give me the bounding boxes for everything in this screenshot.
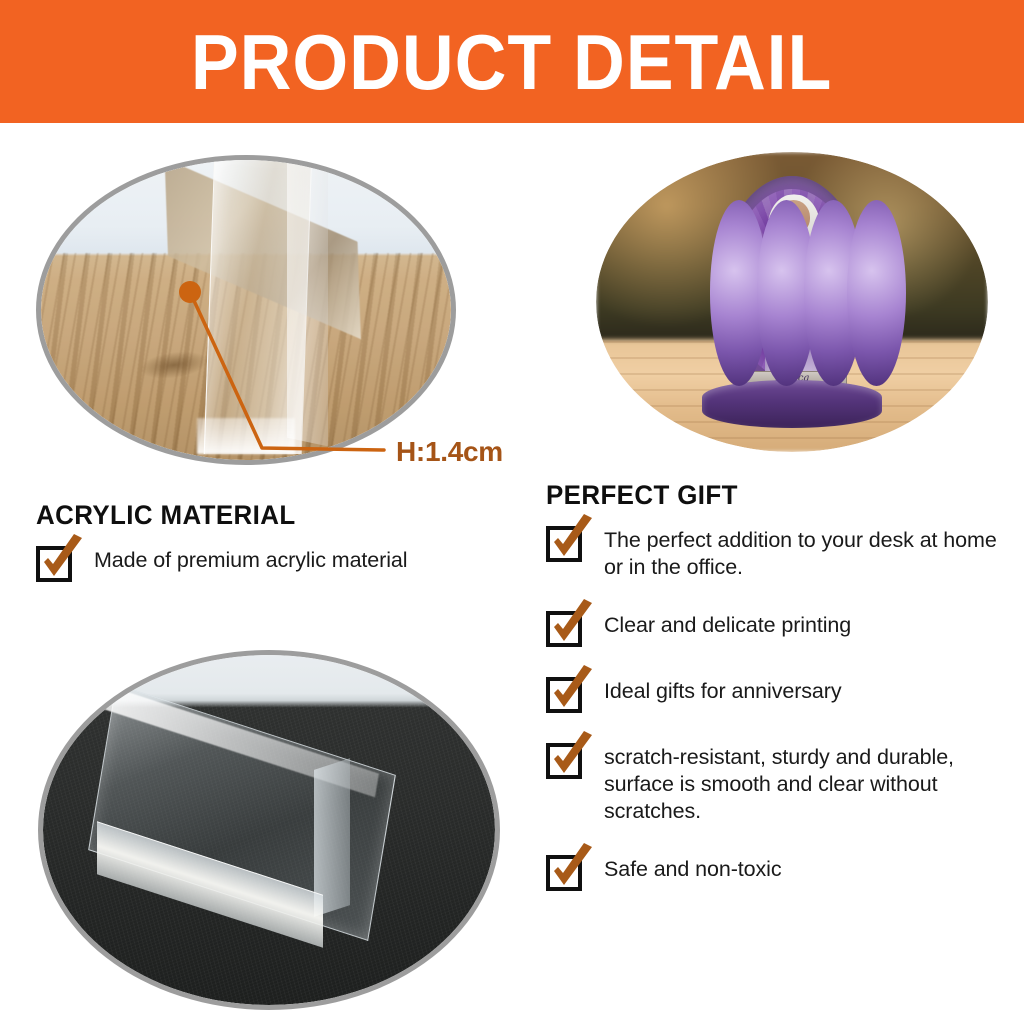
acrylic-block-photo xyxy=(38,650,500,1010)
list-item-label: Made of premium acrylic material xyxy=(94,542,407,574)
list-item-label: Safe and non-toxic xyxy=(604,851,782,883)
checkbox[interactable] xyxy=(546,526,582,562)
block-side-face xyxy=(314,758,350,917)
list-item-label: Ideal gifts for anniversary xyxy=(604,673,842,705)
checkbox[interactable] xyxy=(546,677,582,713)
acrylic-base-highlight xyxy=(197,418,295,454)
section-title-acrylic-material: ACRYLIC MATERIAL xyxy=(36,500,296,531)
rose-carving xyxy=(847,200,906,386)
check-icon xyxy=(544,663,600,719)
checkbox[interactable] xyxy=(36,546,72,582)
check-icon xyxy=(544,512,600,568)
check-icon xyxy=(544,597,600,653)
amethyst-statue-photo: Jessica xyxy=(596,152,988,452)
acrylic-edge-scene xyxy=(41,160,451,460)
statue-scene: Jessica xyxy=(596,152,988,452)
section-title-perfect-gift: PERFECT GIFT xyxy=(546,480,738,511)
check-icon xyxy=(34,532,90,588)
check-icon xyxy=(544,729,600,785)
amethyst-rose-base xyxy=(702,380,882,428)
feature-list-acrylic-material: Made of premium acrylic material xyxy=(36,542,506,608)
page-title: PRODUCT DETAIL xyxy=(191,23,832,101)
product-detail-page: PRODUCT DETAIL xyxy=(0,0,1024,1024)
acrylic-block-scene xyxy=(43,655,495,1005)
page-header-banner: PRODUCT DETAIL xyxy=(0,0,1024,123)
list-item-label: Clear and delicate printing xyxy=(604,607,851,639)
acrylic-side-face xyxy=(287,162,328,447)
checkbox[interactable] xyxy=(546,743,582,779)
list-item: Ideal gifts for anniversary xyxy=(546,673,1008,713)
list-item: scratch-resistant, sturdy and durable, s… xyxy=(546,739,1008,825)
checkbox[interactable] xyxy=(546,611,582,647)
list-item-label: The perfect addition to your desk at hom… xyxy=(604,522,1008,581)
list-item: Clear and delicate printing xyxy=(546,607,1008,647)
list-item-label: scratch-resistant, sturdy and durable, s… xyxy=(604,739,1008,825)
feature-list-perfect-gift: The perfect addition to your desk at hom… xyxy=(546,522,1008,917)
check-icon xyxy=(544,841,600,897)
height-callout-label: H:1.4cm xyxy=(396,436,503,468)
acrylic-edge-photo xyxy=(36,155,456,465)
list-item: The perfect addition to your desk at hom… xyxy=(546,522,1008,581)
list-item: Safe and non-toxic xyxy=(546,851,1008,891)
list-item: Made of premium acrylic material xyxy=(36,542,506,582)
checkbox[interactable] xyxy=(546,855,582,891)
